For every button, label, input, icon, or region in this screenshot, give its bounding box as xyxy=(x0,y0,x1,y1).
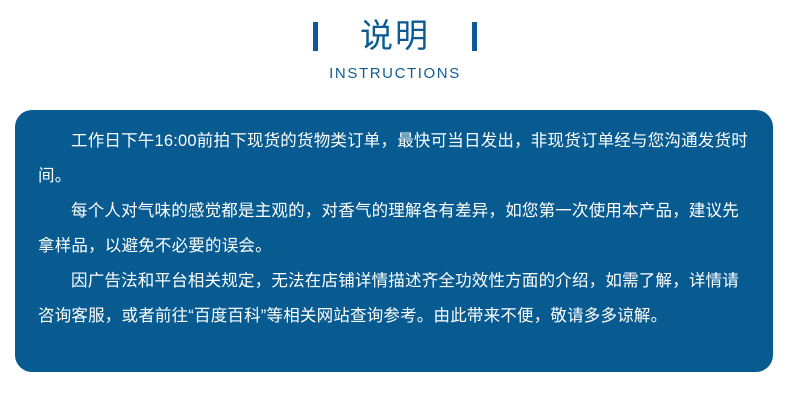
instructions-page: 说明 INSTRUCTIONS 工作日下午16:00前拍下现货的货物类订单，最快… xyxy=(0,0,790,401)
instructions-panel: 工作日下午16:00前拍下现货的货物类订单，最快可当日发出，非现货订单经与您沟通… xyxy=(15,110,773,372)
vertical-bar-icon-left xyxy=(313,22,318,51)
page-title: 说明 xyxy=(360,18,430,54)
instruction-paragraph: 工作日下午16:00前拍下现货的货物类订单，最快可当日发出，非现货订单经与您沟通… xyxy=(38,124,751,194)
instruction-paragraph: 每个人对气味的感觉都是主观的，对香气的理解各有差异，如您第一次使用本产品，建议先… xyxy=(38,194,751,264)
vertical-bar-icon-right xyxy=(472,22,477,51)
instruction-paragraph: 因广告法和平台相关规定，无法在店铺详情描述齐全功效性方面的介绍，如需了解，详情请… xyxy=(38,264,751,334)
page-subtitle: INSTRUCTIONS xyxy=(0,64,790,84)
instructions-body: 工作日下午16:00前拍下现货的货物类订单，最快可当日发出，非现货订单经与您沟通… xyxy=(38,124,751,334)
title-row: 说明 xyxy=(0,14,790,58)
